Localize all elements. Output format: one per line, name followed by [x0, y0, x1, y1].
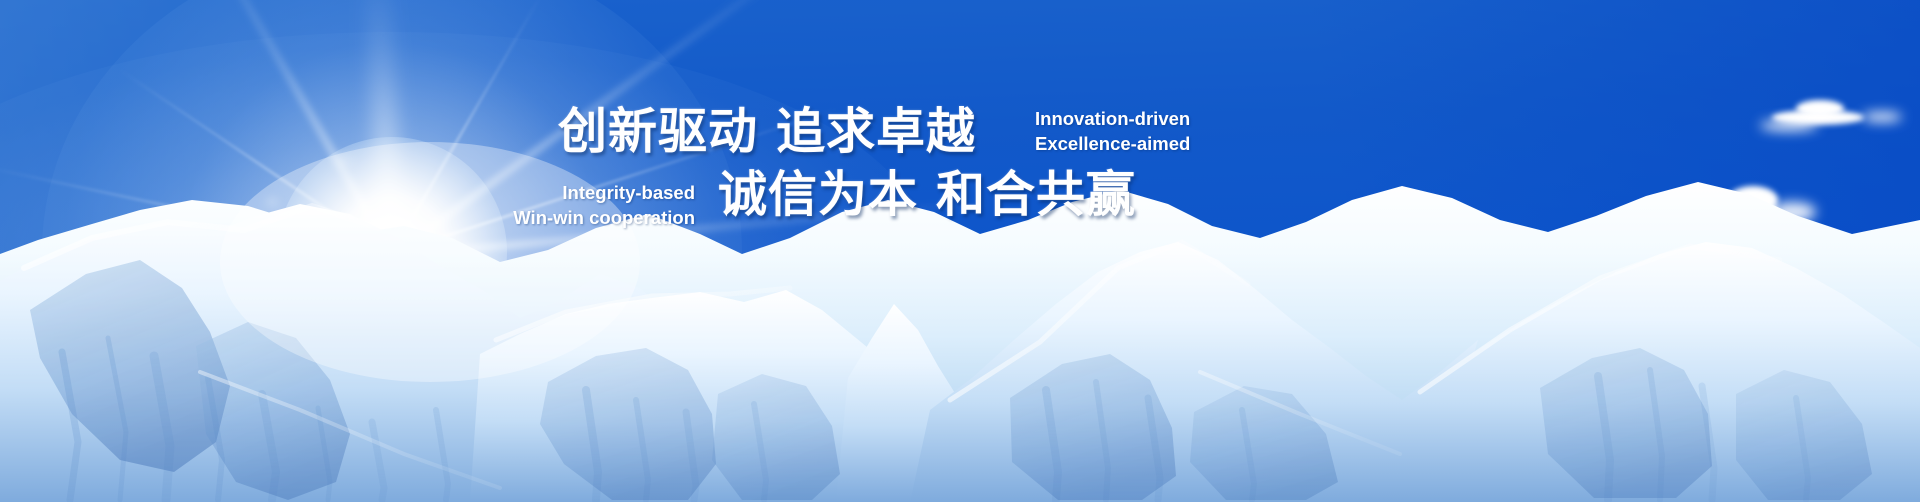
slogan-english-left-line-1: Integrity-based	[513, 180, 695, 205]
slogan-english-left: Integrity-based Win-win cooperation	[513, 180, 695, 230]
slogan-english-right-line-1: Innovation-driven	[1035, 106, 1190, 131]
slogan-chinese-line-2: 诚信为本 和合共赢	[718, 155, 1136, 226]
slogan-english-left-line-2: Win-win cooperation	[513, 205, 695, 230]
hero-banner: 创新驱动 追求卓越 诚信为本 和合共赢 Innovation-driven Ex…	[0, 0, 1920, 502]
slogan-text-layer: 创新驱动 追求卓越 诚信为本 和合共赢 Innovation-driven Ex…	[0, 0, 1920, 502]
slogan-english-right-line-2: Excellence-aimed	[1035, 131, 1190, 156]
slogan-chinese-line-1: 创新驱动 追求卓越	[558, 92, 976, 163]
slogan-english-right: Innovation-driven Excellence-aimed	[1035, 106, 1190, 156]
